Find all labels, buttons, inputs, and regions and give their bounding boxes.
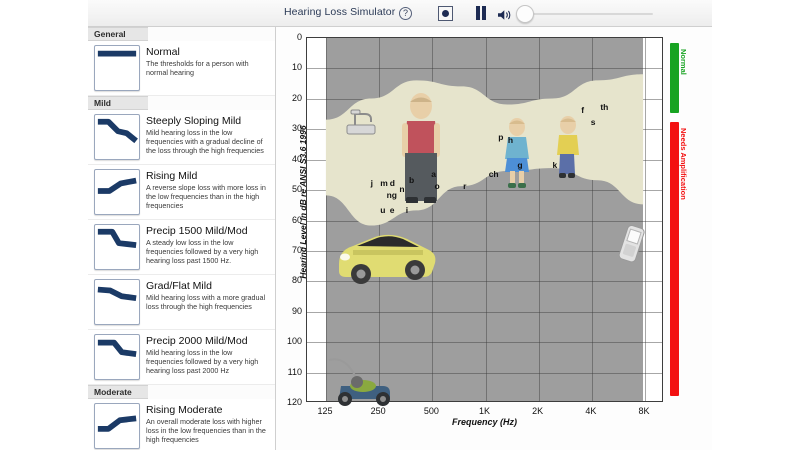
speech-sound-label: o [434, 181, 439, 191]
volume-slider-knob[interactable] [516, 5, 534, 23]
speech-sound-label: n [399, 184, 404, 194]
question-circle-icon[interactable]: ? [399, 7, 412, 20]
x-axis-tick-label: 250 [371, 406, 386, 416]
speech-sound-label: b [409, 175, 414, 185]
audiogram-item-title: Rising Moderate [146, 404, 271, 416]
audiogram-list-item[interactable]: Precip 1500 Mild/ModA steady low loss in… [88, 220, 275, 275]
sidebar-group-header: Moderate [88, 385, 148, 399]
speech-sound-label: i [406, 205, 408, 215]
audiogram-thumbnail-icon [94, 114, 140, 160]
speech-sound-label: th [600, 102, 608, 112]
severity-bar-label: Needs Amplification [679, 128, 688, 200]
audiogram-list-item[interactable]: Precip 2000 Mild/ModMild hearing loss in… [88, 330, 275, 385]
screenshot-stage: Hearing Loss Simulator ? Audiograms Gene… [0, 0, 800, 450]
speech-sound-label: f [581, 105, 584, 115]
audiogram-thumbnail-icon [94, 45, 140, 91]
volume-slider-track [529, 13, 653, 15]
y-axis-tick-label: 40 [292, 154, 302, 164]
audiogram-thumbnail-icon [94, 224, 140, 270]
speech-sound-label: h [508, 135, 513, 145]
audiogram-list-item[interactable]: Steeply Sloping MildMild hearing loss in… [88, 110, 275, 165]
audiogram-item-description: A reverse slope loss with more loss in t… [146, 183, 271, 211]
audiogram-item-text: Rising MildA reverse slope loss with mor… [140, 169, 271, 211]
y-axis-tick-label: 30 [292, 123, 302, 133]
pause-icon[interactable] [476, 6, 488, 20]
volume-slider[interactable] [516, 7, 656, 21]
speech-banana-band [307, 38, 662, 401]
x-axis-tick-label: 125 [317, 406, 332, 416]
audiogram-item-text: Rising ModerateAn overall moderate loss … [140, 403, 271, 445]
audiogram-thumbnail-icon [94, 334, 140, 380]
top-toolbar: Hearing Loss Simulator ? [88, 0, 712, 27]
cell-phone-illustration [617, 224, 645, 264]
audiogram-list-item[interactable]: Grad/Flat MildMild hearing loss with a m… [88, 275, 275, 330]
severity-bar-label: Normal [679, 49, 688, 75]
audiogram-list-item[interactable]: Rising MildA reverse slope loss with mor… [88, 165, 275, 220]
audiogram-item-description: Mild hearing loss in the low frequencies… [146, 128, 271, 156]
audiogram-item-text: Steeply Sloping MildMild hearing loss in… [140, 114, 271, 156]
speech-sound-label: m [380, 178, 388, 188]
hearing-loss-simulator-window: Hearing Loss Simulator ? Audiograms Gene… [88, 0, 712, 450]
speech-sound-label: s [591, 117, 596, 127]
app-title: Hearing Loss Simulator [284, 6, 395, 18]
audiogram-item-title: Precip 2000 Mild/Mod [146, 335, 271, 347]
audiogram-item-text: Precip 1500 Mild/ModA steady low loss in… [140, 224, 271, 266]
y-axis-tick-label: 50 [292, 184, 302, 194]
y-axis-tick-label: 90 [292, 306, 302, 316]
y-axis-tick-label: 80 [292, 275, 302, 285]
x-axis-tick-label: 1K [479, 406, 490, 416]
x-axis-tick-label: 4K [585, 406, 596, 416]
audiogram-item-title: Precip 1500 Mild/Mod [146, 225, 271, 237]
window-body: Audiograms GeneralNormalThe thresholds f… [88, 27, 712, 450]
audiogram-item-description: A steady low loss in the low frequencies… [146, 238, 271, 266]
speech-sound-label: u [380, 205, 385, 215]
audiogram-item-title: Normal [146, 46, 271, 58]
y-axis-tick-label: 20 [292, 93, 302, 103]
sidebar-group-header: Mild [88, 96, 148, 110]
lawn-mower-illustration [325, 354, 403, 406]
audiogram-item-title: Rising Mild [146, 170, 271, 182]
severity-bar [670, 122, 679, 396]
speech-sound-label: g [517, 160, 522, 170]
speech-sound-label: ch [489, 169, 499, 179]
audiogram-list[interactable]: GeneralNormalThe thresholds for a person… [88, 27, 275, 450]
y-axis-tick-label: 120 [287, 397, 302, 407]
speech-sound-label: k [552, 160, 557, 170]
speech-sound-label: a [431, 169, 436, 179]
x-axis-tick-label: 8K [638, 406, 649, 416]
child-figure-illustration [503, 118, 531, 190]
x-axis-tick-label: 500 [424, 406, 439, 416]
severity-bar [670, 43, 679, 113]
sidebar-group-header: General [88, 27, 148, 41]
speech-sound-label: d [390, 178, 395, 188]
audiogram-item-description: The thresholds for a person with normal … [146, 59, 271, 77]
speech-sound-label: r [463, 181, 466, 191]
faucet-illustration [341, 101, 383, 139]
y-axis-tick-label: 0 [297, 32, 302, 42]
audiogram-item-description: Mild hearing loss with a more gradual lo… [146, 293, 271, 311]
audiogram-item-text: Grad/Flat MildMild hearing loss with a m… [140, 279, 271, 311]
audiogram-item-text: Precip 2000 Mild/ModMild hearing loss in… [140, 334, 271, 376]
record-icon[interactable] [438, 6, 453, 21]
audiogram-item-text: NormalThe thresholds for a person with n… [140, 45, 271, 77]
x-axis-label: Frequency (Hz) [306, 417, 663, 427]
audiogram-item-title: Steeply Sloping Mild [146, 115, 271, 127]
speaker-icon[interactable] [497, 8, 513, 20]
y-axis-tick-label: 100 [287, 336, 302, 346]
audiograms-sidebar[interactable]: Audiograms GeneralNormalThe thresholds f… [88, 27, 276, 450]
audiogram-item-description: An overall moderate loss with higher los… [146, 417, 271, 445]
x-axis-tick-label: 2K [532, 406, 543, 416]
child-figure-2-illustration [555, 116, 581, 182]
audiogram-thumbnail-icon [94, 403, 140, 449]
speech-sound-label: p [498, 132, 503, 142]
speech-sound-label: ng [387, 190, 397, 200]
plot-area[interactable]: jmdngnbueiaorchphgkfths [306, 37, 663, 402]
audiogram-item-title: Grad/Flat Mild [146, 280, 271, 292]
audiogram-chart-panel: Hearing Level in dB re ANSI S3.6 1996 [276, 27, 712, 450]
car-illustration [333, 224, 437, 286]
audiogram-thumbnail-icon [94, 169, 140, 215]
audiogram-thumbnail-icon [94, 279, 140, 325]
y-axis-tick-label: 60 [292, 215, 302, 225]
audiogram-item-description: Mild hearing loss in the low frequencies… [146, 348, 271, 376]
audiogram-list-item[interactable]: NormalThe thresholds for a person with n… [88, 41, 275, 96]
speech-sound-label: e [390, 205, 395, 215]
audiogram-list-item[interactable]: Rising ModerateAn overall moderate loss … [88, 399, 275, 450]
speech-sound-label: j [371, 178, 373, 188]
y-axis-tick-label: 70 [292, 245, 302, 255]
y-axis-tick-label: 10 [292, 62, 302, 72]
y-axis-tick-label: 110 [288, 367, 302, 377]
